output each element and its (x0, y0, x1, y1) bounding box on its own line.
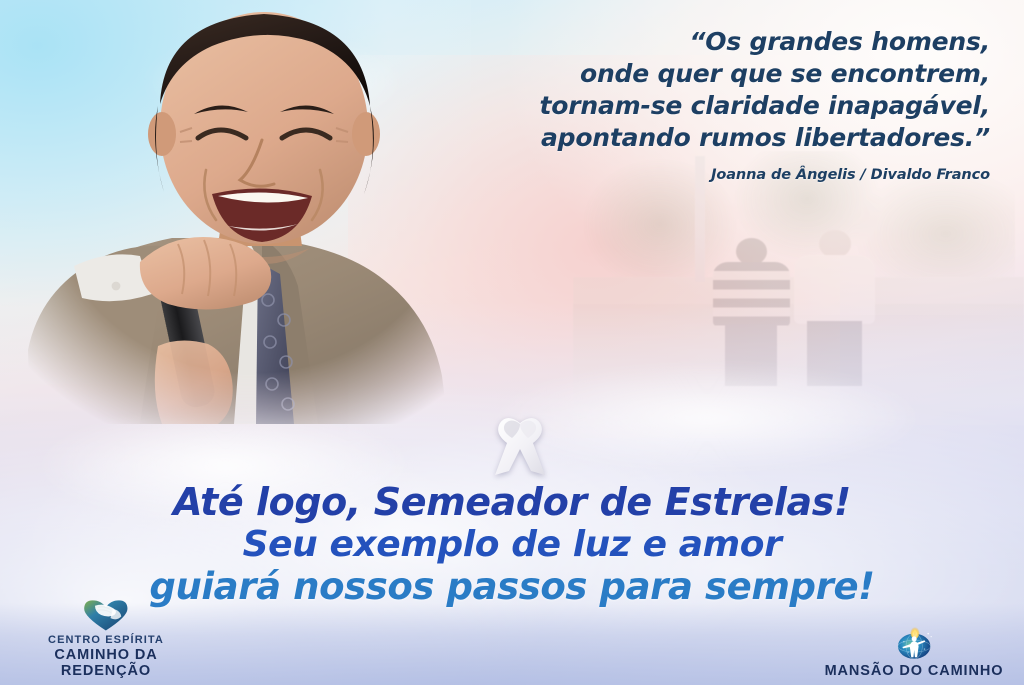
logo-mansao-do-caminho: MANSÃO DO CAMINHO (814, 627, 1014, 679)
logo-centro-espirita-caminho-da-redencao: CENTRO ESPÍRITA CAMINHO DA REDENÇÃO (8, 598, 204, 679)
headline-line-1: Até logo, Semeador de Estrelas! (0, 483, 1024, 522)
logo-left-line-2: CAMINHO DA REDENÇÃO (8, 647, 204, 679)
background-photo-person-head (736, 238, 767, 265)
logo-right-line-2: MANSÃO DO CAMINHO (814, 663, 1014, 679)
quote-line-3: tornam-se claridade inapagável, (450, 90, 990, 122)
quote-block: “Os grandes homens, onde quer que se enc… (450, 26, 990, 183)
portrait-divaldo-franco (12, 0, 492, 424)
memorial-poster: “Os grandes homens, onde quer que se enc… (0, 0, 1024, 685)
globe-figure-torch-icon (814, 627, 1014, 661)
quote-line-2: onde quer que se encontrem, (450, 58, 990, 90)
headline-line-2: Seu exemplo de luz e amor (0, 527, 1024, 564)
quote-line-4: apontando rumos libertadores.” (450, 122, 990, 154)
background-photo-person-head (819, 230, 851, 258)
heart-hands-icon (8, 598, 204, 632)
white-mourning-ribbon-icon (487, 409, 553, 481)
headline-block: Até logo, Semeador de Estrelas! Seu exem… (0, 483, 1024, 606)
quote-attribution: Joanna de Ângelis / Divaldo Franco (450, 167, 990, 183)
quote-line-1: “Os grandes homens, (450, 26, 990, 58)
logo-left-line-1: CENTRO ESPÍRITA (8, 634, 204, 646)
